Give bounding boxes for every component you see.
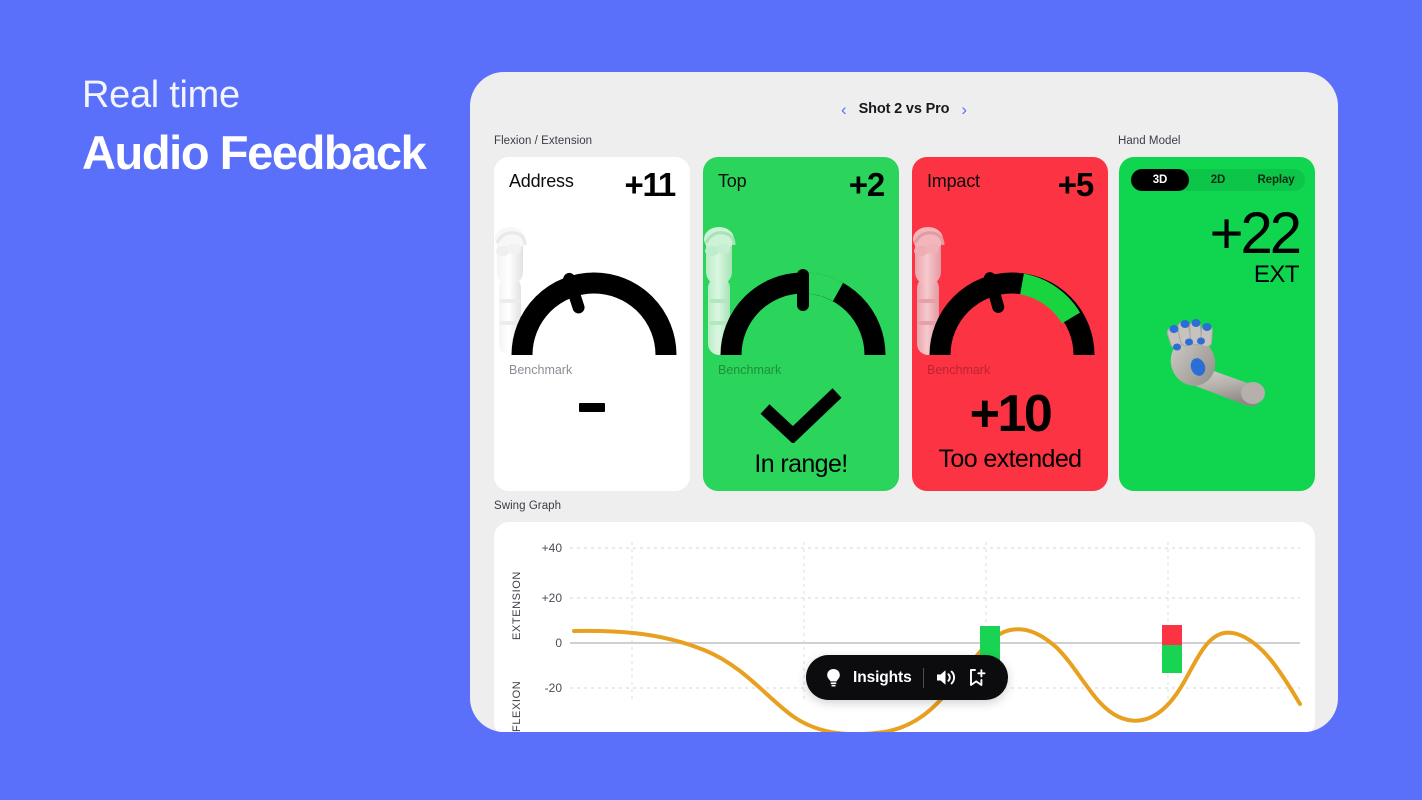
shot-title: Shot 2 vs Pro <box>859 101 950 117</box>
chevron-left-icon[interactable]: ‹ <box>841 101 847 118</box>
axis-label-extension: EXTENSION <box>511 571 523 640</box>
ytick-minus20: -20 <box>545 681 563 695</box>
metric-card-top[interactable]: Top +2 <box>703 157 899 491</box>
hand-angle-readout: +22 EXT <box>1210 205 1299 289</box>
bookmark-add-icon[interactable] <box>968 668 989 688</box>
section-label-swing-graph: Swing Graph <box>494 500 561 512</box>
chevron-right-icon[interactable]: › <box>961 101 967 118</box>
card-title: Top <box>718 171 746 192</box>
card-title: Impact <box>927 171 980 192</box>
view-mode-segmented-control[interactable]: 3D 2D Replay <box>1131 169 1305 191</box>
segment-3d[interactable]: 3D <box>1131 169 1189 191</box>
card-footer <box>494 385 690 417</box>
card-value: +5 <box>1058 171 1093 199</box>
gauge-impact <box>927 213 1097 363</box>
marker-impact[interactable] <box>1162 625 1182 673</box>
section-label-flexion-extension: Flexion / Extension <box>494 135 592 147</box>
shot-navigator: ‹ Shot 2 vs Pro › <box>470 98 1338 120</box>
card-header: Top +2 <box>718 171 884 211</box>
ytick-plus20: +20 <box>542 591 563 605</box>
benchmark-label: Benchmark <box>718 363 781 377</box>
swing-graph-panel: +40 +20 0 -20 EXTENSION FLEXION <box>494 522 1315 732</box>
card-value: +2 <box>849 171 884 199</box>
insights-pill[interactable]: Insights <box>806 655 1008 700</box>
gauge-arc <box>927 213 1097 363</box>
metric-card-address[interactable]: Address +11 <box>494 157 690 491</box>
segment-2d[interactable]: 2D <box>1189 169 1247 191</box>
gauge-top <box>718 213 888 363</box>
card-header: Address +11 <box>509 171 675 211</box>
card-verdict: In range! <box>703 450 899 479</box>
check-icon <box>753 387 849 443</box>
card-header: Impact +5 <box>927 171 1093 211</box>
benchmark-dash-icon <box>579 403 605 412</box>
hero-heading: Real time Audio Feedback <box>82 72 462 182</box>
card-footer: In range! <box>703 385 899 479</box>
segment-replay[interactable]: Replay <box>1247 169 1305 191</box>
benchmark-delta: +10 <box>912 385 1108 443</box>
hand-angle-value: +22 <box>1210 205 1299 263</box>
gauge-arc <box>718 213 888 363</box>
tablet-frame: ‹ Shot 2 vs Pro › Flexion / Extension Ha… <box>470 72 1338 732</box>
gauge-address <box>509 213 679 363</box>
metric-card-impact[interactable]: Impact +5 <box>912 157 1108 491</box>
section-label-hand-model: Hand Model <box>1118 135 1181 147</box>
gauge-arc <box>509 213 679 363</box>
insights-label: Insights <box>853 669 912 687</box>
pill-divider <box>923 668 924 688</box>
card-title: Address <box>509 171 574 192</box>
ytick-zero: 0 <box>555 636 562 650</box>
hero-line-1: Real time <box>82 72 462 118</box>
card-footer: +10 Too extended <box>912 385 1108 474</box>
hand-model-panel: 3D 2D Replay +22 EXT <box>1119 157 1315 491</box>
card-value: +11 <box>624 171 675 199</box>
hero-line-2: Audio Feedback <box>82 124 462 182</box>
lightbulb-icon <box>825 668 842 687</box>
benchmark-label: Benchmark <box>927 363 990 377</box>
benchmark-label: Benchmark <box>509 363 572 377</box>
axis-label-flexion: FLEXION <box>511 681 523 732</box>
card-verdict: Too extended <box>912 445 1108 474</box>
metric-card-row: Address +11 <box>494 157 1108 491</box>
ytick-plus40: +40 <box>542 541 563 555</box>
speaker-volume-icon[interactable] <box>935 668 957 687</box>
swing-graph-chart[interactable]: +40 +20 0 -20 EXTENSION FLEXION <box>494 522 1315 732</box>
hand-3d-model-icon[interactable] <box>1149 307 1279 417</box>
